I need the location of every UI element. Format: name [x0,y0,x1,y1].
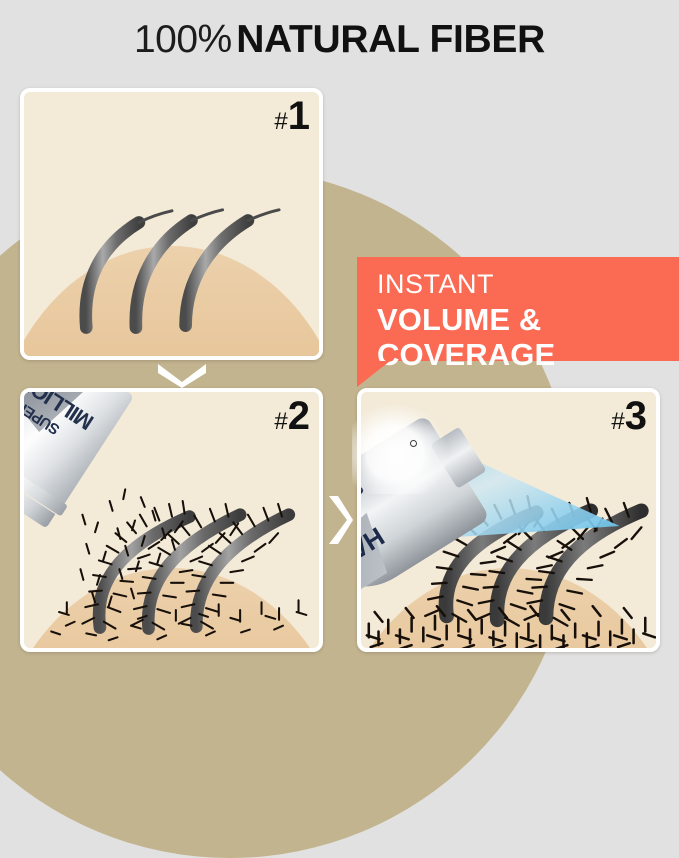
page-title: 100% NATURAL FIBER [0,18,679,62]
panel-1-illustration: #1 [24,92,319,356]
step-hash-symbol: # [274,408,287,435]
step-number-badge-1: #1 [274,96,309,136]
step-panel-2: MILLION SUPER #2 [20,388,323,652]
step-number-badge-3: #3 [611,396,646,436]
panel-3-illustration: SUPER HAIR #3 [361,392,656,648]
page-title-prefix: 100% [134,18,232,61]
step-number-badge-2: #2 [274,396,309,436]
step-number-value: 1 [288,94,309,138]
promo-banner: INSTANT VOLUME & COVERAGE [357,257,679,361]
step-panel-3: SUPER HAIR #3 [357,388,660,652]
chevron-down-icon [152,360,212,388]
step-hash-symbol: # [611,408,624,435]
spray-nozzle-icon [410,440,417,447]
step-number-value: 2 [288,394,309,438]
promo-banner-line-1: INSTANT [377,270,679,300]
panel-2-illustration: MILLION SUPER #2 [24,392,319,648]
chevron-right-icon [325,490,353,550]
step-hash-symbol: # [274,108,287,135]
promo-banner-line-2: VOLUME & COVERAGE [377,302,679,373]
page-title-emphasis: NATURAL FIBER [236,18,545,61]
step-panel-1: #1 [20,88,323,360]
step-number-value: 3 [625,394,646,438]
